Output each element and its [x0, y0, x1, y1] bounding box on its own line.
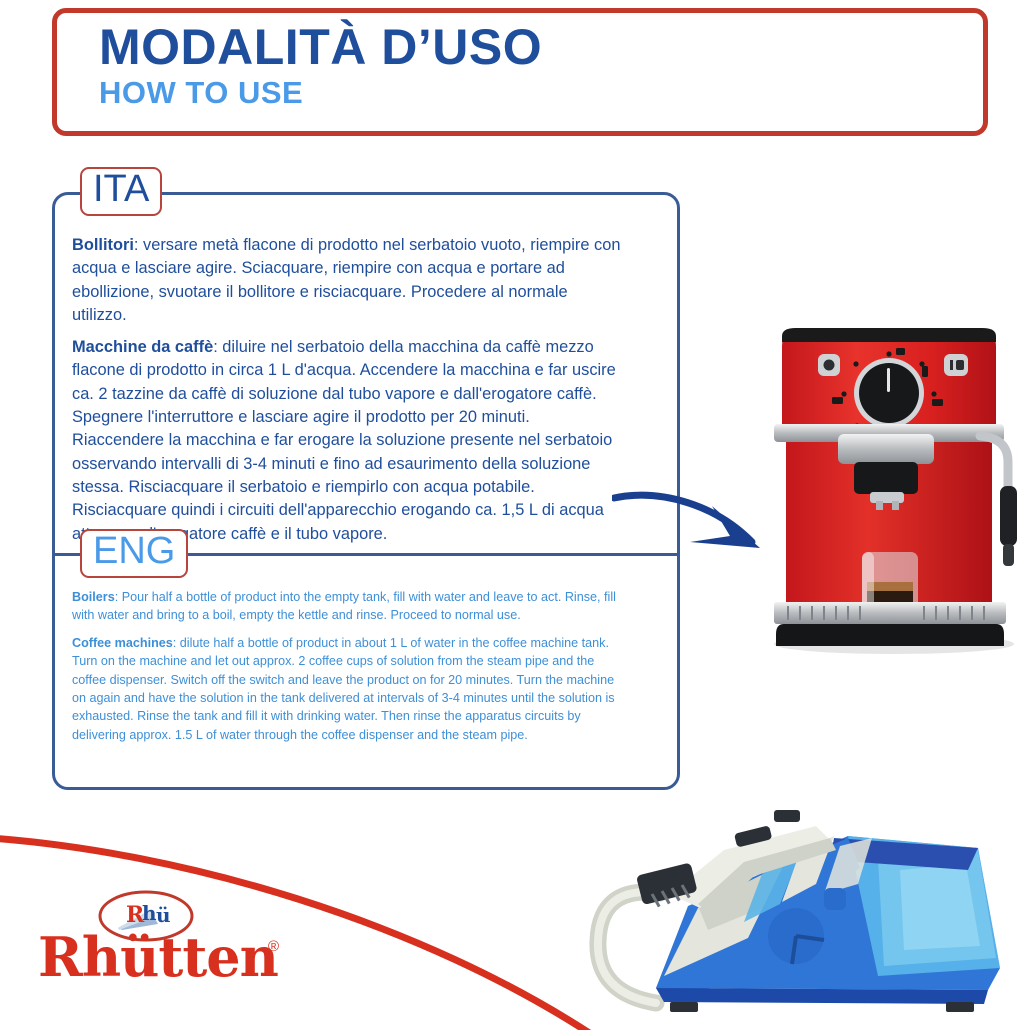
- eng-paragraph-coffee: Coffee machines: dilute half a bottle of…: [72, 634, 620, 744]
- steam-generator-iron-illustration: [548, 718, 1024, 1028]
- eng-lead-boilers: Boilers: [72, 590, 115, 604]
- language-badge-eng: ENG: [80, 529, 188, 578]
- page-title: MODALITÀ D’USO: [99, 21, 542, 74]
- ita-lead-coffee: Macchine da caffè: [72, 338, 213, 356]
- ita-lead-boilers: Bollitori: [72, 236, 134, 254]
- eng-body-coffee: : dilute half a bottle of product in abo…: [72, 636, 615, 742]
- registered-mark: ®: [268, 938, 279, 955]
- brand-logo: R h ü Rhütten ®: [18, 890, 308, 1010]
- ita-paragraph-boilers: Bollitori: versare metà flacone di prodo…: [72, 234, 624, 327]
- ita-body-coffee: : diluire nel serbatoio della macchina d…: [72, 338, 616, 542]
- ita-body-boilers: : versare metà flacone di prodotto nel s…: [72, 236, 620, 324]
- page-subtitle: HOW TO USE: [99, 77, 303, 110]
- brand-name: Rhütten: [38, 930, 278, 984]
- eng-body-boilers: : Pour half a bottle of product into the…: [72, 590, 616, 622]
- header-box: MODALITÀ D’USO HOW TO USE: [52, 8, 988, 136]
- espresso-machine-illustration: [744, 296, 1024, 656]
- eng-paragraph-boilers: Boilers: Pour half a bottle of product i…: [72, 588, 620, 625]
- eng-lead-coffee: Coffee machines: [72, 636, 173, 650]
- english-instructions: Boilers: Pour half a bottle of product i…: [72, 588, 620, 753]
- language-badge-ita: ITA: [80, 167, 162, 216]
- italian-instructions: Bollitori: versare metà flacone di prodo…: [72, 234, 624, 555]
- svg-text:ü: ü: [156, 903, 171, 927]
- svg-text:h: h: [142, 901, 157, 925]
- ita-paragraph-coffee: Macchine da caffè: diluire nel serbatoio…: [72, 336, 624, 546]
